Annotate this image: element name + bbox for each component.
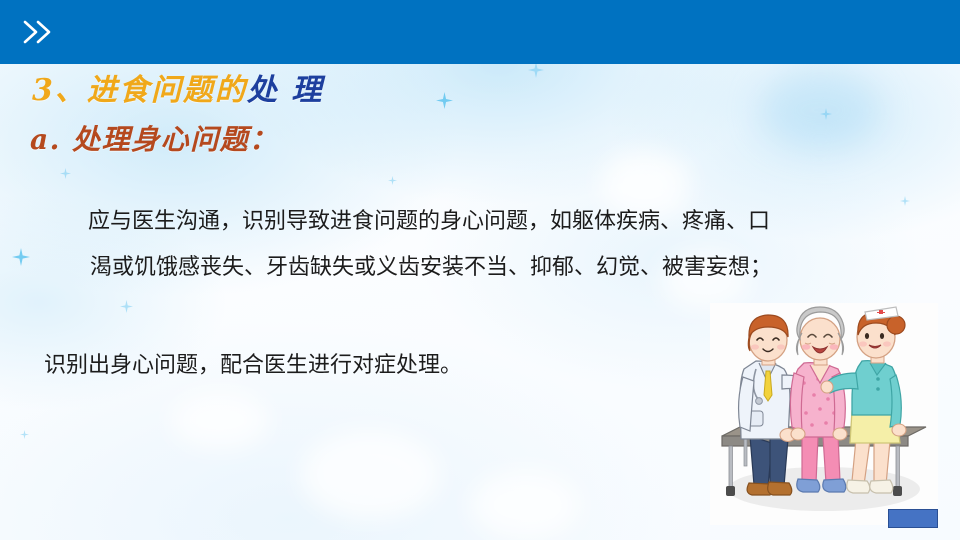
double-chevron-right-icon[interactable] (22, 17, 56, 47)
slide-title-gold-part: 3、进食问题的 (32, 73, 247, 108)
paragraph-one-line-2: 渴或饥饿感丧失、牙齿缺失或义齿安装不当、抑郁、幻觉、被害妄想； (88, 244, 918, 290)
paragraph-one-line-1: 应与医生沟通，识别导致进食问题的身心问题，如躯体疾病、疼痛、口 (88, 198, 918, 244)
slide-subtitle: a. 处理身心问题： (30, 126, 279, 154)
blue-rectangle-tag (888, 509, 938, 528)
paragraph-one: 应与医生沟通，识别导致进食问题的身心问题，如躯体疾病、疼痛、口 渴或饥饿感丧失、… (88, 198, 918, 290)
doctor-elderly-nurse-on-bench-illustration (710, 303, 938, 525)
illustration-graphic (710, 303, 938, 525)
slide-title: 3、进食问题的处 理 (32, 76, 323, 106)
slide-title-blue-part: 处 理 (247, 73, 323, 108)
header-bar (0, 0, 960, 64)
paragraph-two: 识别出身心问题，配合医生进行对症处理。 (44, 348, 462, 382)
slide-canvas: 3、进食问题的处 理 a. 处理身心问题： 应与医生沟通，识别导致进食问题的身心… (0, 0, 960, 540)
